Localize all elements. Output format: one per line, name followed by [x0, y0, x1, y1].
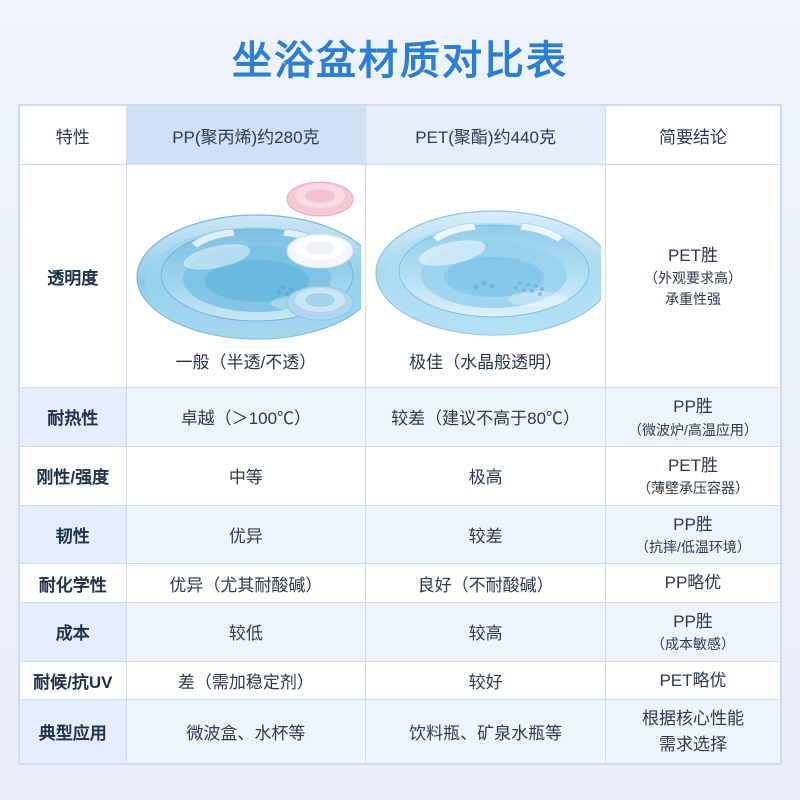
- header-pp: PP(聚丙烯)约280克: [126, 106, 366, 165]
- table-row: 典型应用 微波盒、水杯等 饮料瓶、矿泉水瓶等 根据核心性能 需求选择: [20, 700, 781, 764]
- row-label-transparency: 透明度: [20, 165, 127, 388]
- comparison-table-wrap: 特性 PP(聚丙烯)约280克 PET(聚酯)约440克 简要结论 透明度: [18, 104, 782, 765]
- row-label-heat: 耐热性: [20, 388, 127, 447]
- comparison-table: 特性 PP(聚丙烯)约280克 PET(聚酯)约440克 简要结论 透明度: [19, 105, 781, 764]
- cell-conclusion-cost: PP胜 （成本敏感）: [605, 602, 780, 661]
- header-feature: 特性: [20, 106, 127, 165]
- cell-pet-transparency: 极佳（水晶般透明）: [366, 165, 606, 388]
- header-row: 特性 PP(聚丙烯)约280克 PET(聚酯)约440克 简要结论: [20, 106, 781, 165]
- table-row: 刚性/强度 中等 极高 PET胜 （薄壁承压容器）: [20, 446, 781, 505]
- table-row: 耐化学性 优异（尤其耐酸碱） 良好（不耐酸碱） PP略优: [20, 564, 781, 603]
- cell-pp-toughness: 优异: [126, 505, 366, 564]
- conclusion-sub2: 承重性强: [610, 289, 776, 309]
- conclusion-sub: （抗摔/低温环境）: [610, 537, 776, 557]
- table-row: 成本 较低 较高 PP胜 （成本敏感）: [20, 602, 781, 661]
- cell-conclusion-uv: PET略优: [605, 661, 780, 700]
- header-pet: PET(聚酯)约440克: [366, 106, 606, 165]
- row-label-uv: 耐候/抗UV: [20, 661, 127, 700]
- cell-conclusion-toughness: PP胜 （抗摔/低温环境）: [605, 505, 780, 564]
- cell-pp-applications: 微波盒、水杯等: [126, 700, 366, 764]
- table-row: 耐热性 卓越（＞100℃） 较差（建议不高于80℃） PP胜 （微波炉/高温应用…: [20, 388, 781, 447]
- pet-transparency-caption: 极佳（水晶般透明）: [370, 348, 601, 373]
- row-label-applications: 典型应用: [20, 700, 127, 764]
- conclusion-sub: （微波炉/高温应用）: [610, 420, 776, 440]
- cell-pp-transparency: 一般（半透/不透）: [126, 165, 366, 388]
- row-label-chemical: 耐化学性: [20, 564, 127, 603]
- conclusion-sub: （外观要求高）: [610, 268, 776, 288]
- conclusion-main: PP略优: [610, 570, 776, 596]
- table-row: 韧性 优异 较差 PP胜 （抗摔/低温环境）: [20, 505, 781, 564]
- cell-conclusion-rigidity: PET胜 （薄壁承压容器）: [605, 446, 780, 505]
- row-label-cost: 成本: [20, 602, 127, 661]
- cell-pet-applications: 饮料瓶、矿泉水瓶等: [366, 700, 606, 764]
- cell-pet-toughness: 较差: [366, 505, 606, 564]
- page-title: 坐浴盆材质对比表: [0, 0, 800, 96]
- cell-conclusion-chemical: PP略优: [605, 564, 780, 603]
- conclusion-main: PP胜: [610, 512, 776, 538]
- conclusion-main: PP胜: [610, 609, 776, 635]
- cell-pet-rigidity: 极高: [366, 446, 606, 505]
- cell-pp-uv: 差（需加稳定剂）: [126, 661, 366, 700]
- cell-pet-cost: 较高: [366, 602, 606, 661]
- conclusion-sub: （薄壁承压容器）: [610, 478, 776, 498]
- row-label-toughness: 韧性: [20, 505, 127, 564]
- conclusion-main: PP胜: [610, 394, 776, 420]
- pet-image-cell: 极佳（水晶般透明）: [370, 171, 601, 381]
- cell-pet-chemical: 良好（不耐酸碱）: [366, 564, 606, 603]
- conclusion-main: 根据核心性能: [610, 706, 776, 732]
- table-row: 耐候/抗UV 差（需加稳定剂） 较好 PET略优: [20, 661, 781, 700]
- cell-conclusion-heat: PP胜 （微波炉/高温应用）: [605, 388, 780, 447]
- table-header: 特性 PP(聚丙烯)约280克 PET(聚酯)约440克 简要结论: [20, 106, 781, 165]
- cell-conclusion-transparency: PET胜 （外观要求高） 承重性强: [605, 165, 780, 388]
- table-body: 透明度: [20, 165, 781, 764]
- conclusion-main: PET略优: [610, 668, 776, 694]
- pp-transparency-caption: 一般（半透/不透）: [131, 348, 362, 373]
- cell-pet-uv: 较好: [366, 661, 606, 700]
- cell-pp-cost: 较低: [126, 602, 366, 661]
- header-conclusion: 简要结论: [605, 106, 780, 165]
- comparison-page: 坐浴盆材质对比表 特性 PP(聚丙烯)约280克 PET(聚酯)约440克 简要…: [0, 0, 800, 800]
- pp-image-cell: 一般（半透/不透）: [131, 171, 362, 381]
- conclusion-main: PET胜: [610, 453, 776, 479]
- cell-pp-rigidity: 中等: [126, 446, 366, 505]
- cell-conclusion-applications: 根据核心性能 需求选择: [605, 700, 780, 764]
- table-row: 透明度: [20, 165, 781, 388]
- cell-pp-heat: 卓越（＞100℃）: [126, 388, 366, 447]
- cell-pp-chemical: 优异（尤其耐酸碱）: [126, 564, 366, 603]
- conclusion-main: PET胜: [610, 243, 776, 269]
- conclusion-sub: 需求选择: [610, 732, 776, 758]
- cell-pet-heat: 较差（建议不高于80℃）: [366, 388, 606, 447]
- row-label-rigidity: 刚性/强度: [20, 446, 127, 505]
- conclusion-sub: （成本敏感）: [610, 634, 776, 654]
